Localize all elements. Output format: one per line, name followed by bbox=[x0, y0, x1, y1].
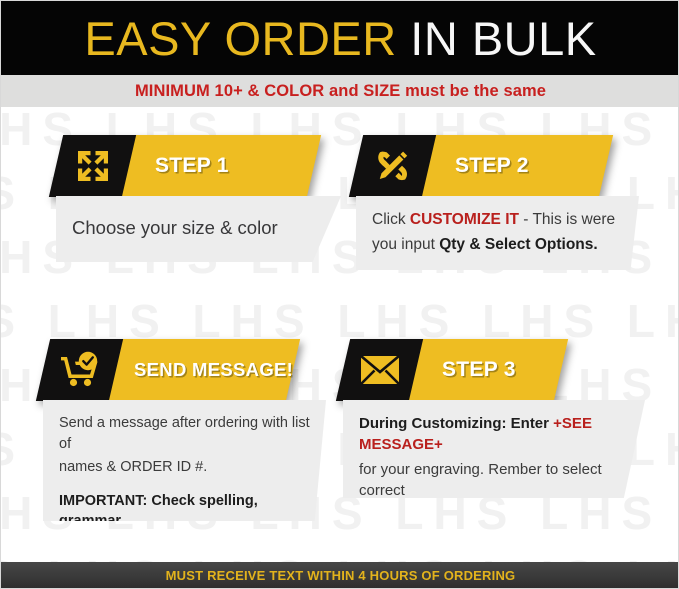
card-send-message-line2: names & ORDER ID #. bbox=[59, 457, 310, 478]
envelope-icon bbox=[359, 353, 401, 387]
cart-check-icon bbox=[59, 350, 101, 390]
card-step2-label: STEP 2 bbox=[429, 154, 529, 178]
qty-select-options-emphasis: Qty & Select Options. bbox=[439, 236, 597, 253]
card-step1-text: Choose your size & color bbox=[72, 215, 278, 241]
card-step1-banner: STEP 1 bbox=[56, 135, 314, 197]
card-step2-label-box: STEP 2 bbox=[422, 135, 613, 197]
card-send-message-banner: SEND MESSAGE! bbox=[43, 339, 289, 401]
footer-text: MUST RECEIVE TEXT WITHIN 4 HOURS OF ORDE… bbox=[166, 568, 516, 583]
card-step2-line2-a: you input bbox=[372, 236, 439, 253]
card-step2-line1-a: Click bbox=[372, 211, 410, 228]
color-size-emphasis: color/size bbox=[59, 537, 126, 553]
card-step2-line1: Click CUSTOMIZE IT - This is were bbox=[372, 209, 623, 231]
card-send-message-line3: IMPORTANT: Check spelling, grammar bbox=[59, 491, 310, 532]
card-step2-line1-c: - This is were bbox=[519, 211, 615, 228]
card-step3-body: During Customizing: Enter +SEE MESSAGE+ … bbox=[343, 400, 645, 498]
subtitle-bar: MINIMUM 10+ & COLOR and SIZE must be the… bbox=[1, 75, 679, 107]
subtitle-text: MINIMUM 10+ & COLOR and SIZE must be the… bbox=[135, 82, 546, 101]
card-send-message-body: Send a message after ordering with list … bbox=[43, 400, 326, 521]
card-step2-banner: STEP 2 bbox=[356, 135, 606, 197]
card-send-message-label: SEND MESSAGE! bbox=[116, 359, 293, 381]
card-step1: STEP 1 Choose your size & color bbox=[56, 135, 346, 262]
card-step2-line2: you input Qty & Select Options. bbox=[372, 234, 623, 256]
card-step1-label-box: STEP 1 bbox=[122, 135, 321, 197]
card-step2: STEP 2 Click CUSTOMIZE IT - This is were… bbox=[356, 135, 642, 270]
expand-arrows-icon bbox=[73, 146, 113, 186]
important-label: IMPORTANT: bbox=[59, 493, 147, 509]
card-step1-body: Choose your size & color bbox=[56, 196, 341, 262]
card-step1-label: STEP 1 bbox=[129, 154, 229, 178]
page-title-white: IN BULK bbox=[397, 12, 597, 65]
card-step3-label: STEP 3 bbox=[416, 358, 516, 382]
page-title: EASY ORDER IN BULK bbox=[84, 15, 596, 62]
card-send-message-line1: Send a message after ordering with list … bbox=[59, 413, 310, 454]
card-step2-body: Click CUSTOMIZE IT - This is were you in… bbox=[356, 196, 639, 270]
card-step3-line1-a: During Customizing: Enter bbox=[359, 415, 553, 432]
footer-banner: MUST RECEIVE TEXT WITHIN 4 HOURS OF ORDE… bbox=[1, 562, 679, 588]
card-step3-banner: STEP 3 bbox=[343, 339, 561, 401]
card-send-message: SEND MESSAGE! Send a message after order… bbox=[43, 339, 331, 521]
header-banner: EASY ORDER IN BULK bbox=[1, 1, 679, 75]
wrench-pencil-icon bbox=[373, 146, 413, 186]
card-step3-line1: During Customizing: Enter +SEE MESSAGE+ bbox=[359, 413, 629, 456]
customize-it-highlight: CUSTOMIZE IT bbox=[410, 211, 519, 228]
easy-order-infographic: LHS LHS LHS LHS LHS LHS LHS LHS LHS LHS … bbox=[0, 0, 679, 589]
card-step3: STEP 3 During Customizing: Enter +SEE ME… bbox=[343, 339, 649, 498]
card-step3-line2: for your engraving. Rember to select cor… bbox=[359, 459, 629, 502]
page-title-gold: EASY ORDER bbox=[84, 12, 396, 65]
card-step3-line3: font style and backing during customizin… bbox=[359, 504, 629, 547]
card-send-message-label-box: SEND MESSAGE! bbox=[109, 339, 300, 401]
card-step3-label-box: STEP 3 bbox=[409, 339, 568, 401]
